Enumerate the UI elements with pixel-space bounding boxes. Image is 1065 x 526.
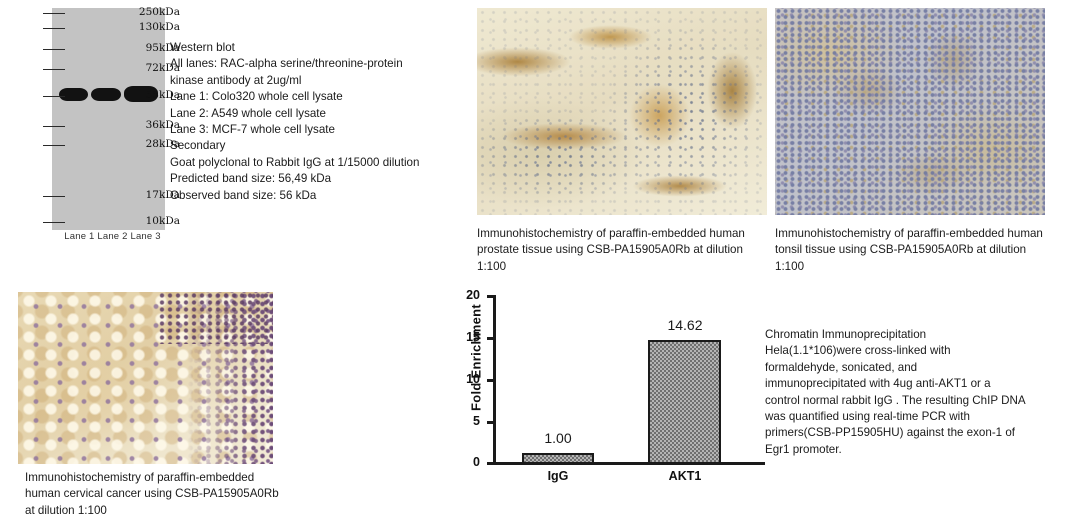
y-tick-label-20: 20 <box>440 288 480 302</box>
mw-tick-250 <box>43 13 65 14</box>
y-tick-20 <box>487 295 496 298</box>
bar-igg <box>522 453 594 464</box>
bar-value-akt1: 14.62 <box>641 317 729 333</box>
ihc-prostate-image <box>477 8 767 215</box>
blot-lane-labels: Lane 1 Lane 2 Lane 3 <box>45 231 180 242</box>
y-tick-0 <box>487 462 496 465</box>
western-blot-description: Western blot All lanes: RAC-alpha serine… <box>170 40 470 204</box>
mw-tick-36 <box>43 126 65 127</box>
cervix-dense-nuclei-patch <box>158 292 273 344</box>
y-tick-label-10: 10 <box>440 372 480 386</box>
mw-marker-10: 10kDa <box>130 215 180 227</box>
y-tick-label-5: 5 <box>440 414 480 428</box>
tonsil-lymphocyte-nuclei-layer <box>775 8 1045 215</box>
mw-marker-250: 250kDa <box>130 6 180 18</box>
bar-category-akt1: AKT1 <box>641 469 729 483</box>
ihc-cervical-cancer-image <box>18 292 273 464</box>
mw-marker-130: 130kDa <box>130 21 180 33</box>
mw-tick-10 <box>43 222 65 223</box>
prostate-nuclei-layer <box>477 8 767 215</box>
mw-tick-17 <box>43 196 65 197</box>
blot-band-lane1 <box>59 88 88 101</box>
ihc-cervical-caption: Immunohistochemistry of paraffin-embedde… <box>25 470 290 519</box>
y-tick-5 <box>487 421 496 424</box>
y-tick-label-0: 0 <box>440 455 480 469</box>
bar-category-igg: IgG <box>515 469 601 483</box>
mw-tick-72 <box>43 69 65 70</box>
chip-bar-chart: Fold Enrichment 20 15 10 5 0 1.00 IgG 14… <box>435 288 765 503</box>
mw-tick-55 <box>43 96 65 97</box>
y-tick-label-15: 15 <box>440 330 480 344</box>
ihc-tonsil-image <box>775 8 1045 215</box>
western-blot-panel: 250kDa 130kDa 95kDa 72kDa 55kDa 36kDa 28… <box>0 0 180 250</box>
ihc-prostate-caption: Immunohistochemistry of paraffin-embedde… <box>477 226 757 275</box>
mw-tick-28 <box>43 145 65 146</box>
bar-akt1 <box>648 340 721 464</box>
bar-value-igg: 1.00 <box>515 430 601 446</box>
mw-tick-130 <box>43 28 65 29</box>
blot-band-lane2 <box>91 88 121 101</box>
chip-description: Chromatin Immunoprecipitation Hela(1.1*1… <box>765 327 1065 458</box>
y-tick-15 <box>487 337 496 340</box>
chart-y-axis-label: Fold Enrichment <box>469 298 484 418</box>
y-tick-10 <box>487 379 496 382</box>
ihc-tonsil-caption: Immunohistochemistry of paraffin-embedde… <box>775 226 1055 275</box>
mw-tick-95 <box>43 49 65 50</box>
